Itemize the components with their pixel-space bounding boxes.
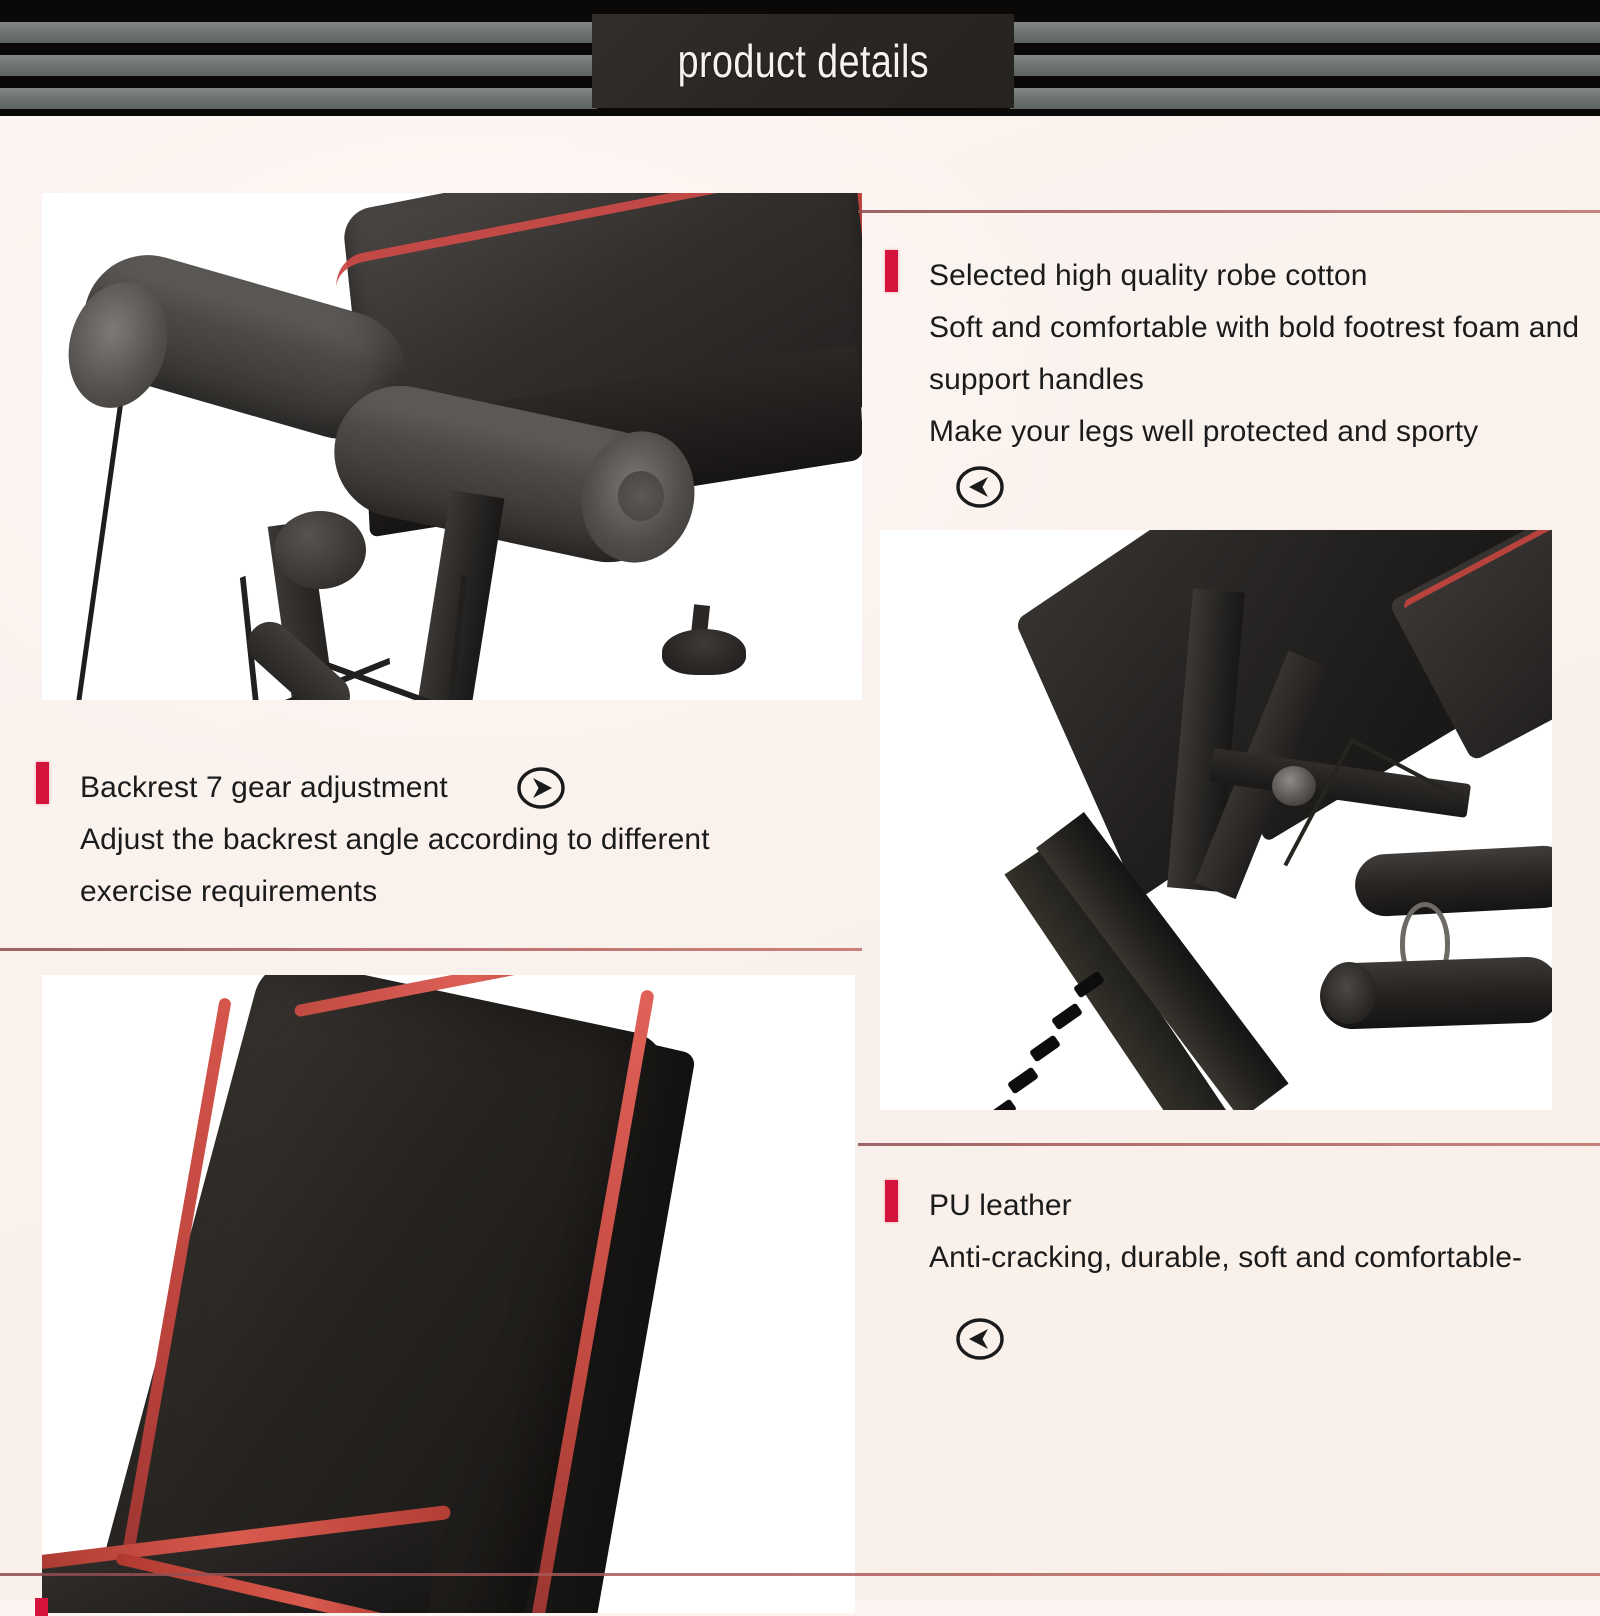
banner-title-panel: product details (592, 14, 1014, 108)
arrow-right-circle-icon[interactable] (516, 763, 566, 813)
locking-pin (1272, 766, 1316, 806)
text-line: Selected high quality robe cotton (929, 250, 1585, 302)
arrow-left-circle-icon[interactable] (955, 462, 1005, 512)
banner-stripe (1010, 55, 1600, 76)
banner-stripe (0, 55, 597, 76)
banner-stripe (0, 88, 597, 109)
banner-stripe (0, 22, 597, 43)
text-line-with-icon: Backrest 7 gear adjustment (80, 762, 796, 814)
text-line: Adjust the backrest angle according to d… (80, 814, 796, 866)
header-banner: product details (0, 0, 1600, 116)
leg-roller-cap (1322, 962, 1376, 1024)
red-marker-bar (885, 1180, 898, 1222)
section-text: PU leather Anti-cracking, durable, soft … (929, 1180, 1585, 1369)
page-bottom-divider (0, 1573, 1600, 1576)
section-backrest-adjustment: Backrest 7 gear adjustment Adjust the ba… (36, 762, 796, 918)
photo-frame-rack (880, 530, 1552, 1110)
red-marker-bar (36, 762, 49, 804)
text-line: Make your legs well protected and sporty (929, 406, 1585, 458)
floor-foot (662, 629, 746, 675)
page-title: product details (677, 34, 928, 88)
next-section-marker (35, 1598, 48, 1616)
text-line: Soft and comfortable with bold footrest … (929, 302, 1585, 354)
text-line: Anti-cracking, durable, soft and comfort… (929, 1232, 1585, 1284)
foam-roller-lower-center (618, 471, 664, 521)
photo-footrest-rollers (42, 193, 862, 700)
red-marker-bar (885, 250, 898, 292)
section-divider (0, 948, 862, 951)
text-line: exercise requirements (80, 866, 796, 918)
leg-roller-upper (1354, 844, 1552, 917)
rack-notch (985, 1099, 1017, 1110)
banner-stripe (1010, 22, 1600, 43)
rack-notch (1051, 1003, 1083, 1031)
rack-notch (1007, 1067, 1039, 1095)
section-divider (858, 210, 1600, 213)
text-line: support handles (929, 354, 1585, 406)
text-line: Backrest 7 gear adjustment (80, 762, 448, 814)
section-footrest-cushion: Selected high quality robe cotton Soft a… (885, 250, 1585, 517)
banner-stripe (1010, 88, 1600, 109)
page-body: Selected high quality robe cotton Soft a… (0, 116, 1600, 1600)
text-line: PU leather (929, 1180, 1585, 1232)
arrow-left-circle-icon[interactable] (955, 1314, 1005, 1364)
section-divider (858, 1143, 1600, 1146)
rack-notch (1029, 1035, 1061, 1063)
section-text: Backrest 7 gear adjustment Adjust the ba… (80, 762, 796, 918)
photo-backrest-pad (42, 975, 855, 1613)
section-text: Selected high quality robe cotton Soft a… (929, 250, 1585, 517)
section-pu-leather: PU leather Anti-cracking, durable, soft … (885, 1180, 1585, 1369)
